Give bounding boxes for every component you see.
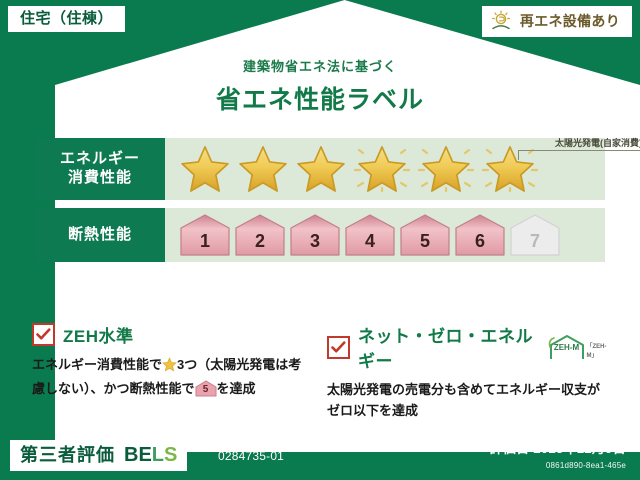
zeh-m-logo-caption: 「ZEH-M」 xyxy=(587,341,609,361)
checkbox-nze[interactable] xyxy=(327,336,350,359)
footer-divider xyxy=(55,432,626,433)
energy-label-line1: エネルギー xyxy=(60,150,140,169)
insulation-level-value: 4 xyxy=(365,231,375,257)
criteria-nze-body: 太陽光発電の売電分も含めてエネルギー収支がゼロ以下を達成 xyxy=(327,379,608,421)
insulation-performance-row: 断熱性能 1234567 xyxy=(35,208,605,262)
insulation-badge-list: 1234567 xyxy=(179,213,561,257)
criteria-zeh-body: エネルギー消費性能で3つ（太陽光発電は考慮しない）、かつ断熱性能で5を達成 xyxy=(32,354,313,399)
footer-bar: 第三者評価 BELS 0284735-01 評価日 2025年12月9日 086… xyxy=(0,432,640,480)
zeh-m-logo: ZEH-M 「ZEH-M」 xyxy=(548,334,609,361)
evaluation-info: 評価日 2025年12月9日 0861d890-8ea1-465e xyxy=(490,438,626,470)
insulation-performance-label: 断熱性能 xyxy=(35,208,165,262)
insulation-level-badge: 5 xyxy=(399,213,451,257)
check-icon xyxy=(331,341,346,354)
criteria-zeh-starcount: 3つ xyxy=(177,357,197,372)
bels-certificate-number: 0284735-01 xyxy=(218,449,284,463)
checkbox-zeh[interactable] xyxy=(32,323,55,346)
renewable-badge-label: 再エネ設備あり xyxy=(520,14,620,28)
insulation-level-badge: 1 xyxy=(179,213,231,257)
insulation-level-badge: 2 xyxy=(234,213,286,257)
energy-performance-label: エネルギー 消費性能 xyxy=(35,138,165,200)
performance-card: エネルギー 消費性能 太陽光発電(自家消費)分 断熱性能 1234567 xyxy=(35,138,605,270)
insulation-level-value: 6 xyxy=(475,231,485,257)
energy-label-root: 住宅（住棟） 再エネ設備あり 建築物省エネ法に基づく 省エネ性能ラベル xyxy=(0,0,640,480)
criteria-zeh-text1: エネルギー消費性能で xyxy=(32,357,162,372)
mini-star-icon xyxy=(162,357,177,378)
star-icon xyxy=(179,144,231,194)
star-icon xyxy=(237,144,289,194)
star-base xyxy=(179,144,231,194)
insulation-level-value: 5 xyxy=(420,231,430,257)
bels-mark-part3: S xyxy=(164,444,177,466)
insulation-level-badge: 6 xyxy=(454,213,506,257)
sun-icon xyxy=(490,10,514,32)
criteria-zeh: ZEH水準 エネルギー消費性能で3つ（太陽光発電は考慮しない）、かつ断熱性能で5… xyxy=(32,322,313,421)
insulation-level-value: 7 xyxy=(530,231,540,257)
criteria-nze-title: ネット・ゼロ・エネルギー xyxy=(358,322,540,372)
bels-jp-label: 第三者評価 xyxy=(20,446,115,464)
star-solar xyxy=(417,144,475,194)
zeh-m-house-icon: ZEH-M xyxy=(548,334,586,361)
criteria-section: ZEH水準 エネルギー消費性能で3つ（太陽光発電は考慮しない）、かつ断熱性能で5… xyxy=(32,322,608,421)
bels-mark-part1: BE xyxy=(124,444,152,466)
star-solar xyxy=(353,144,411,194)
check-icon xyxy=(36,328,51,341)
insulation-level-badge: 3 xyxy=(289,213,341,257)
renewable-equipment-badge: 再エネ設備あり xyxy=(482,6,632,37)
star-list xyxy=(179,144,539,194)
star-solar xyxy=(481,144,539,194)
star-icon xyxy=(484,144,536,194)
evaluation-date: 評価日 2025年12月9日 xyxy=(490,438,626,457)
star-icon xyxy=(356,144,408,194)
page-title: 省エネ性能ラベル xyxy=(0,80,640,116)
bels-badge: 第三者評価 BELS xyxy=(10,440,187,471)
insulation-label-text: 断熱性能 xyxy=(68,226,132,245)
bels-wordmark: BELS xyxy=(124,445,177,465)
insulation-level-rating: 1234567 xyxy=(165,208,605,262)
star-icon xyxy=(420,144,472,194)
criteria-nze: ネット・ゼロ・エネルギー ZEH-M 「ZEH-M」 太陽光発電の売電分も含めて… xyxy=(327,322,608,421)
insulation-level-badge: 4 xyxy=(344,213,396,257)
bels-mark-part2: L xyxy=(152,444,164,466)
energy-star-rating: 太陽光発電(自家消費)分 xyxy=(165,138,605,200)
insulation-level-badge: 7 xyxy=(509,213,561,257)
mini-badge-value: 5 xyxy=(195,382,217,398)
insulation-level-value: 2 xyxy=(255,231,265,257)
star-base xyxy=(237,144,289,194)
mini-insulation-badge: 5 xyxy=(195,380,217,397)
criteria-nze-header: ネット・ゼロ・エネルギー ZEH-M 「ZEH-M」 xyxy=(327,322,608,372)
criteria-zeh-header: ZEH水準 xyxy=(32,322,313,347)
star-icon xyxy=(295,144,347,194)
star-base xyxy=(295,144,347,194)
energy-label-line2: 消費性能 xyxy=(68,169,132,188)
title-block: 建築物省エネ法に基づく 省エネ性能ラベル xyxy=(0,56,640,116)
evaluation-id: 0861d890-8ea1-465e xyxy=(490,461,626,470)
criteria-zeh-title: ZEH水準 xyxy=(63,322,134,347)
building-type-tag: 住宅（住棟） xyxy=(8,6,125,32)
insulation-level-value: 1 xyxy=(200,231,210,257)
title-subtitle: 建築物省エネ法に基づく xyxy=(0,56,640,75)
criteria-zeh-text3: を達成 xyxy=(217,381,256,396)
zeh-m-logo-text: ZEH-M xyxy=(548,343,586,352)
energy-performance-row: エネルギー 消費性能 太陽光発電(自家消費)分 xyxy=(35,138,605,200)
insulation-level-value: 3 xyxy=(310,231,320,257)
